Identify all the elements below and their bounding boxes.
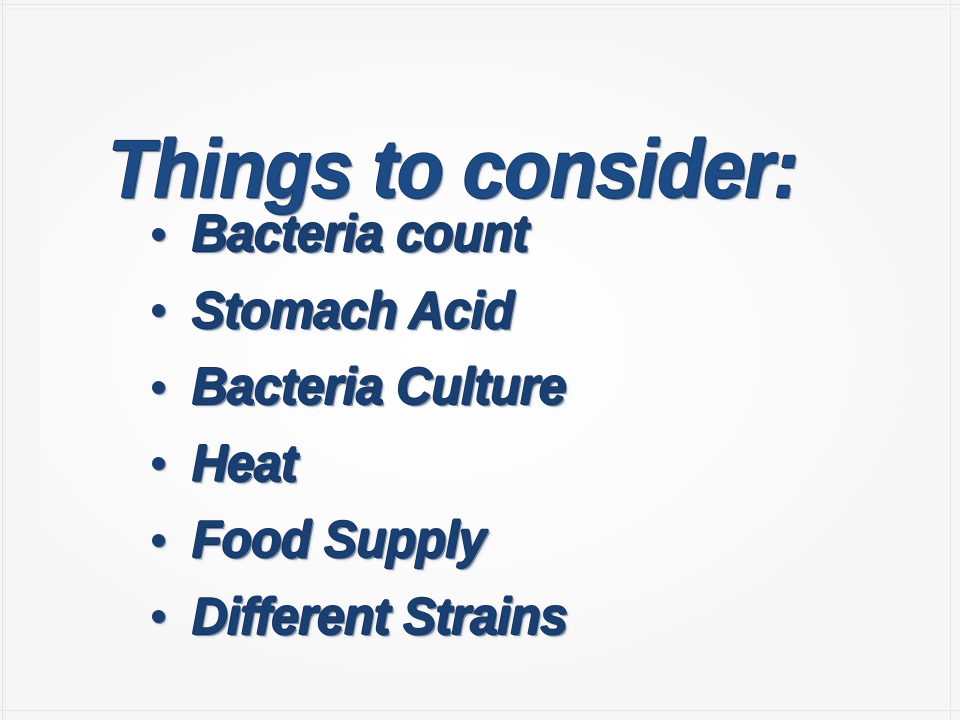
list-item: Different Strains — [152, 579, 892, 656]
bullet-dot-icon — [152, 304, 165, 317]
presentation-slide: Things to consider: Bacteria count Stoma… — [0, 0, 960, 720]
list-item: Bacteria Culture — [152, 349, 892, 426]
frame-edge-bottom — [0, 710, 960, 711]
bullet-item-label: Bacteria Culture — [192, 361, 566, 413]
list-item: Bacteria count — [152, 196, 892, 273]
bullet-item-label: Heat — [192, 438, 297, 490]
bullet-dot-icon — [152, 381, 165, 394]
frame-edge-left — [2, 0, 3, 720]
bullet-item-label: Different Strains — [192, 591, 567, 643]
bullet-dot-icon — [152, 228, 165, 241]
bullet-dot-icon — [152, 610, 165, 623]
bullet-dot-icon — [152, 534, 165, 547]
bullet-list: Bacteria count Stomach Acid Bacteria Cul… — [152, 196, 892, 655]
frame-edge-top — [0, 4, 960, 5]
list-item: Food Supply — [152, 502, 892, 579]
frame-edge-left-inner — [5, 0, 6, 720]
bullet-item-label: Bacteria count — [192, 208, 529, 260]
list-item: Heat — [152, 426, 892, 503]
bullet-dot-icon — [152, 457, 165, 470]
list-item: Stomach Acid — [152, 273, 892, 350]
frame-edge-top-inner — [0, 9, 960, 10]
frame-edge-right — [950, 0, 951, 720]
bullet-item-label: Stomach Acid — [192, 285, 514, 337]
bullet-item-label: Food Supply — [192, 514, 486, 566]
